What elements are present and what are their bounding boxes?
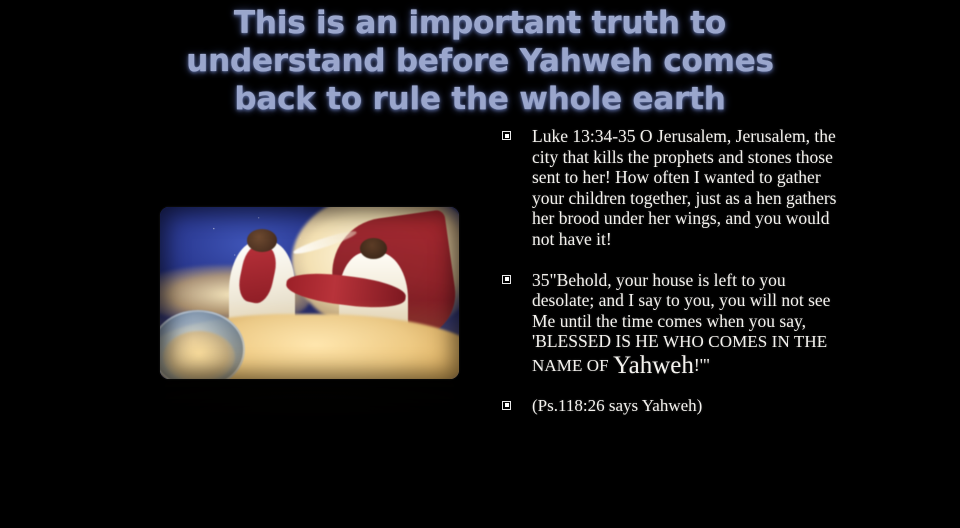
bullet-item-psalm-reference: (Ps.118:26 says Yahweh) xyxy=(496,396,840,417)
title-line-1: This is an important truth to xyxy=(120,4,840,42)
square-bullet-icon xyxy=(502,131,511,140)
bullet-3-text: (Ps.118:26 says Yahweh) xyxy=(532,396,840,417)
title-line-3: back to rule the whole earth xyxy=(120,80,840,118)
painting-image xyxy=(160,207,459,379)
bullet-item-verse-35: 35"Behold, your house is left to you des… xyxy=(496,270,840,378)
scripture-text-block: Luke 13:34-35 O Jerusalem, Jerusalem, th… xyxy=(496,126,840,417)
title-line-2: understand before Yahweh comes xyxy=(120,42,840,80)
painting-vignette xyxy=(160,207,459,379)
bullet-2-tail: !'" xyxy=(694,355,710,375)
bullet-1-text: Luke 13:34-35 O Jerusalem, Jerusalem, th… xyxy=(532,126,840,250)
bullet-2-emphasis-yahweh: Yahweh xyxy=(613,352,694,379)
bullet-item-luke-passage: Luke 13:34-35 O Jerusalem, Jerusalem, th… xyxy=(496,126,840,250)
slide-image-container xyxy=(160,207,459,379)
bullet-2-text: 35"Behold, your house is left to you des… xyxy=(532,270,840,378)
square-bullet-icon xyxy=(502,275,511,284)
slide-title: This is an important truth to understand… xyxy=(120,4,840,118)
presentation-slide: This is an important truth to understand… xyxy=(0,0,960,528)
square-bullet-icon xyxy=(502,401,511,410)
image-reflection-fade xyxy=(160,380,459,422)
